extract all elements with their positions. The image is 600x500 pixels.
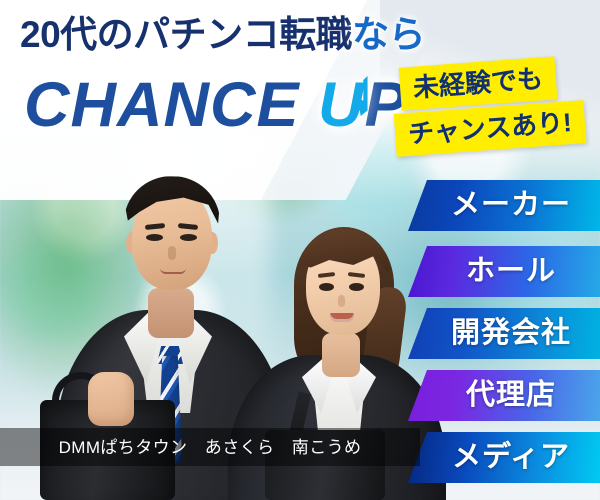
wordmark-u-text: U [318,70,365,140]
headline: 20代のパチンコ転職なら [20,16,425,53]
category-item-maker[interactable]: メーカー [408,180,600,231]
headline-accent-text: なら [352,14,425,55]
category-label-agency: 代理店 [466,381,556,410]
headline-main-text: 20代のパチンコ転職 [20,14,352,55]
advertisement-banner[interactable]: 20代のパチンコ転職なら CHANCE UP 未経験でも チャンスあり! メーカ… [0,0,600,500]
category-label-media: メディア [452,443,570,472]
category-item-media[interactable]: メディア [408,432,600,483]
category-label-hall: ホール [466,257,556,286]
caption-text: DMMぱちタウン あさくら 南こうめ [59,439,362,456]
category-item-hall[interactable]: ホール [408,246,600,297]
wordmark-chance-up: CHANCE UP [24,74,408,137]
category-item-agency[interactable]: 代理店 [408,370,600,421]
wordmark-u-letter: U [318,74,365,137]
caption-bar: DMMぱちタウン あさくら 南こうめ [0,428,420,466]
category-item-development-company[interactable]: 開発会社 [408,308,600,359]
category-label-maker: メーカー [451,191,571,220]
category-label-development-company: 開発会社 [451,319,571,348]
wordmark-chance-text: CHANCE [24,70,300,140]
